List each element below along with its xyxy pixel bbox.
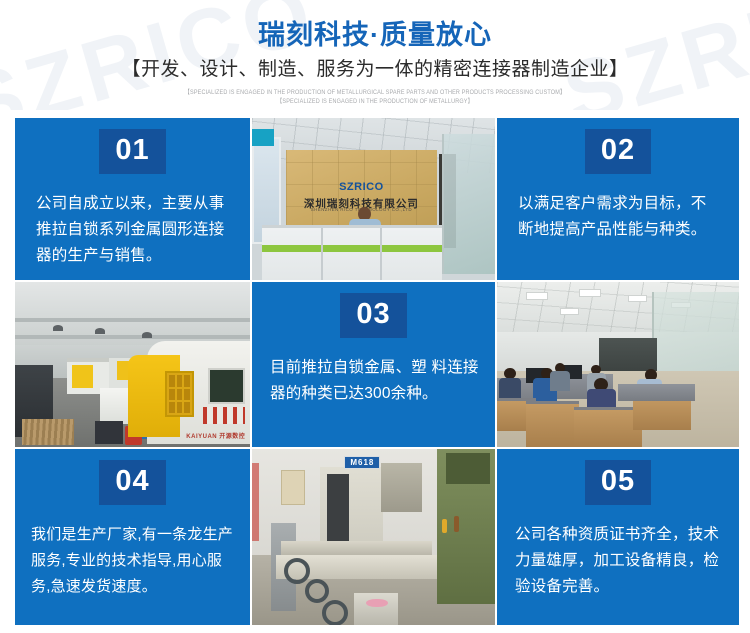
- feature-cell-05: 05 公司各种资质证书齐全，技术力量雄厚，加工设备精良，检验设备完善。: [497, 449, 739, 625]
- page-header: 瑞刻科技·质量放心 【开发、设计、制造、服务为一体的精密连接器制造企业】 【SP…: [0, 0, 750, 107]
- feature-cell-01: 01 公司自成立以来，主要从事推拉自锁系列金属圆形连接器的生产与销售。: [15, 118, 250, 280]
- feature-cell-03: 03 目前推拉自锁金属、塑 料连接器的种类已达300余种。: [252, 282, 495, 447]
- reception-desk: [262, 225, 442, 280]
- number-badge-04: 04: [99, 460, 165, 505]
- reception-lobby-photo: SZRICO 深圳瑞刻科技有限公司 SHENZHEN RICO TECHNOLO…: [252, 118, 495, 280]
- number-badge-03: 03: [340, 293, 406, 338]
- english-subtitle-line-2: 【SPECIALIZED IS ENGAGED IN THE PRODUCTIO…: [0, 97, 750, 107]
- handwheel-upper: [284, 558, 310, 584]
- handwheel-lower: [322, 600, 348, 625]
- wall-accent-band: [252, 129, 274, 145]
- machine-brand-label: KAIYUAN 开源数控: [186, 431, 245, 440]
- wall-poster-red: [252, 463, 259, 540]
- number-badge-05: 05: [585, 460, 651, 505]
- glass-partition: [442, 134, 495, 273]
- feature-cell-04: 04 我们是生产厂家,有一条龙生产服务,专业的技术指导,用心服务,急速发货速度。: [15, 449, 250, 625]
- office-workstations-photo: [497, 282, 739, 447]
- feature-body-02: 以满足客户需求为目标，不断地提高产品性能与种类。: [497, 191, 739, 243]
- cnc-control-screen: [208, 368, 246, 404]
- number-badge-01: 01: [99, 129, 165, 174]
- feature-cell-02: 02 以满足客户需求为目标，不断地提高产品性能与种类。: [497, 118, 739, 280]
- feature-body-04: 我们是生产厂家,有一条龙生产服务,专业的技术指导,用心服务,急速发货速度。: [15, 522, 250, 600]
- grinder-head-unit: [381, 463, 422, 512]
- feature-grid: 01 公司自成立以来，主要从事推拉自锁系列金属圆形连接器的生产与销售。 SZRI…: [15, 118, 735, 621]
- surface-grinder-photo: M618: [252, 449, 495, 625]
- company-logo-text: SZRICO: [339, 181, 384, 193]
- page-subtitle: 【开发、设计、制造、服务为一体的精密连接器制造企业】: [0, 57, 750, 83]
- feature-body-05: 公司各种资质证书齐全，技术力量雄厚，加工设备精良，检验设备完善。: [497, 522, 739, 600]
- material-stock: [22, 419, 74, 445]
- page-title: 瑞刻科技·质量放心: [0, 18, 750, 52]
- cnc-machine-shop-photo: KAIYUAN 开源数控: [15, 282, 250, 447]
- machine-model-label: M618: [344, 456, 380, 469]
- feature-body-03: 目前推拉自锁金属、塑 料连接器的种类已达300余种。: [252, 355, 495, 407]
- yellow-window-panel: [165, 371, 193, 417]
- number-badge-02: 02: [585, 129, 651, 174]
- cnc-button-row: [203, 407, 245, 424]
- english-subtitle-group: 【SPECIALIZED IS ENGAGED IN THE PRODUCTIO…: [0, 89, 750, 107]
- wall-notice: [281, 470, 305, 505]
- feature-body-01: 公司自成立以来，主要从事推拉自锁系列金属圆形连接器的生产与销售。: [15, 191, 250, 269]
